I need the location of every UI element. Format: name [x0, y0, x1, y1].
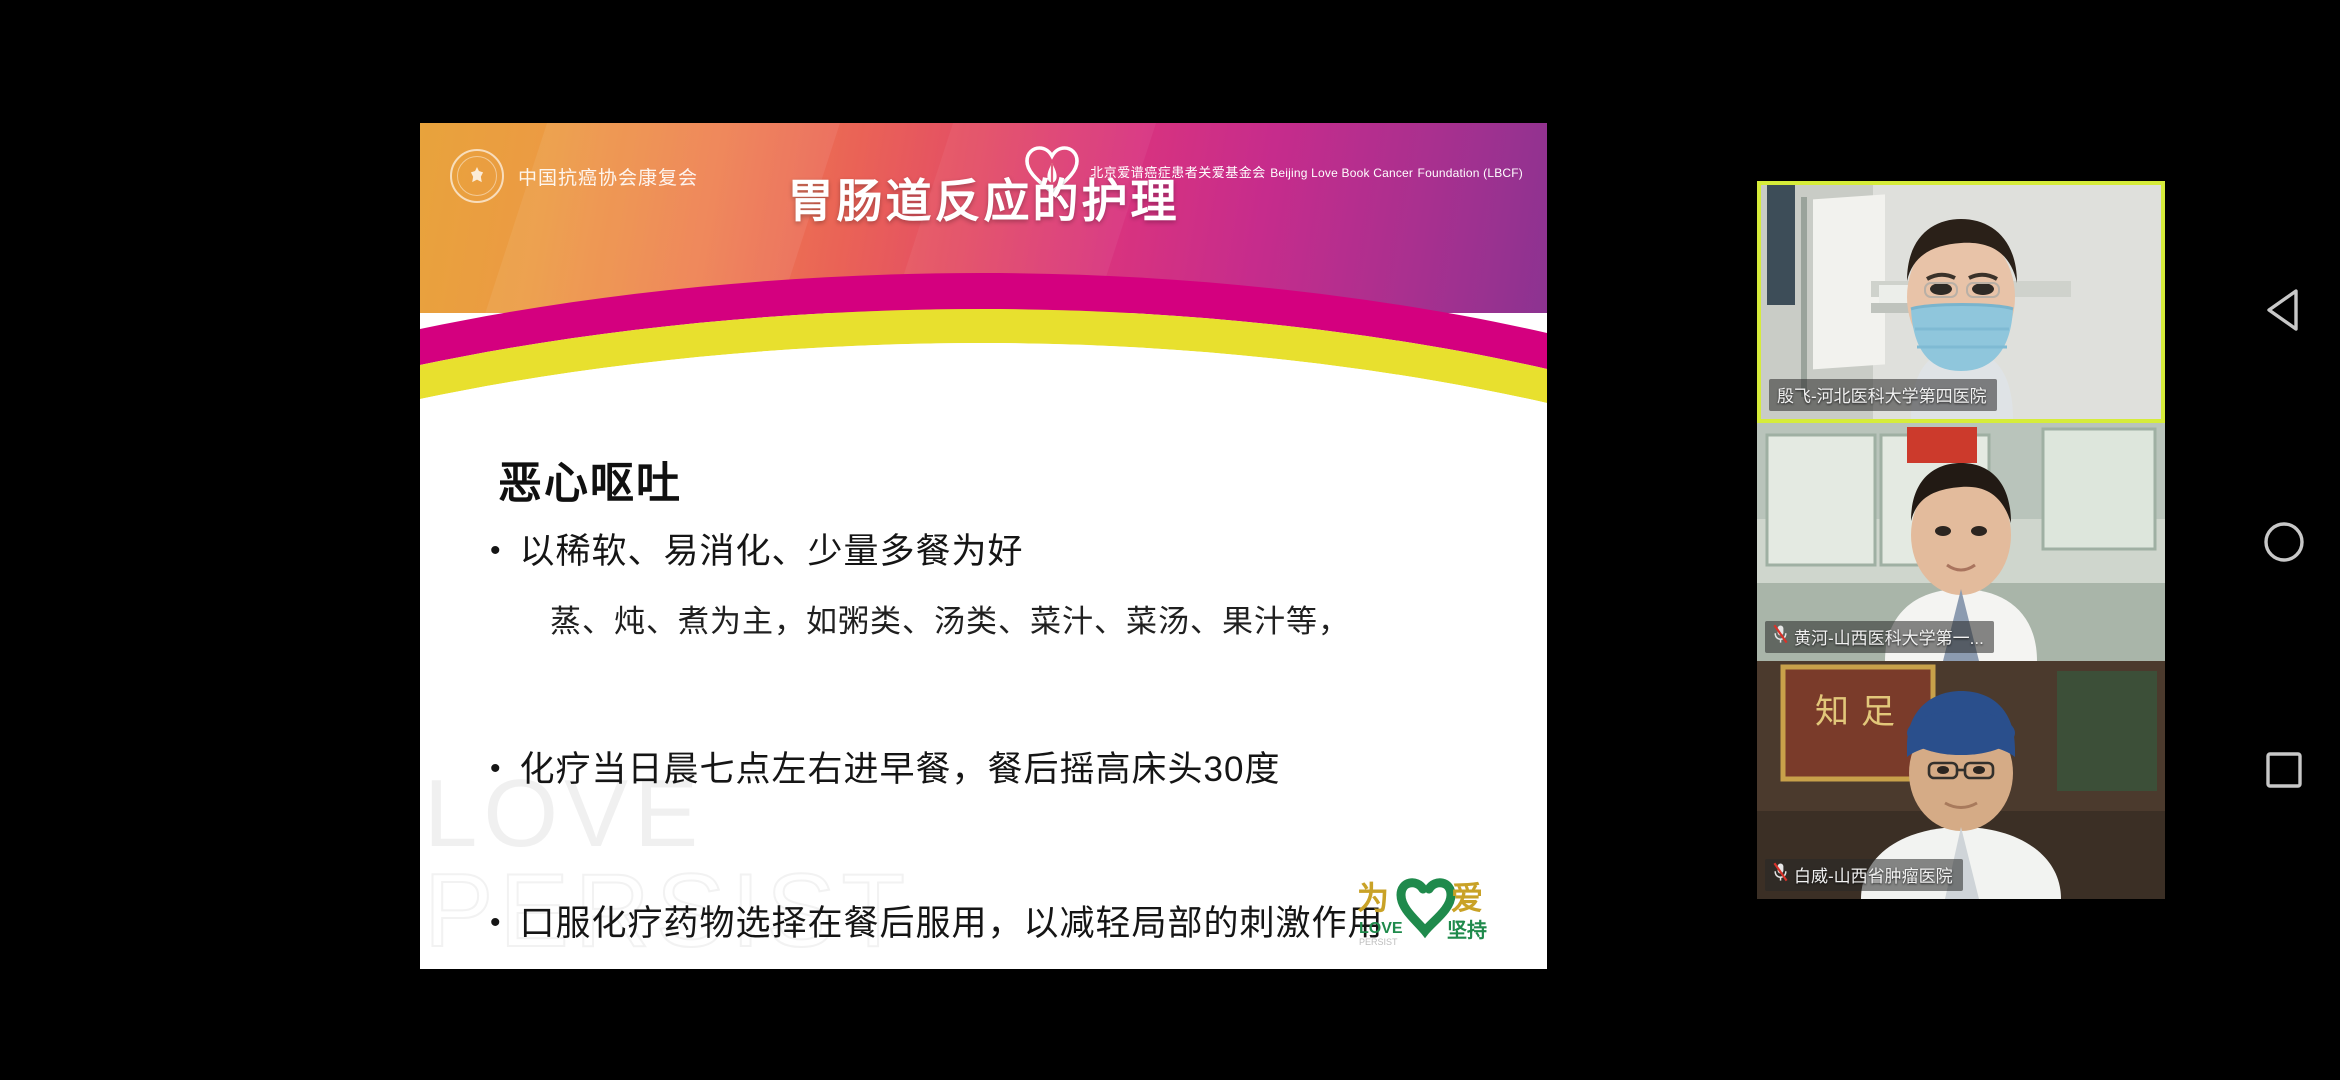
bullet-text: 以稀软、易消化、少量多餐为好 — [520, 531, 1024, 574]
back-triangle-icon — [2262, 286, 2306, 334]
screen-root: LOVE PERSIST 中国抗癌协会康复会 北京爱谱癌症患者关爱基金会 Bei… — [0, 0, 2340, 1080]
bullet-item: • 化疗当日晨七点左右进早餐，餐后摇高床头30度 — [490, 749, 1470, 792]
bullet-marker: • — [490, 749, 502, 788]
svg-text:坚持: 坚持 — [1447, 918, 1487, 942]
home-circle-icon — [2260, 518, 2308, 566]
mic-muted-icon — [1773, 624, 1788, 649]
bullet-text: 口服化疗药物选择在餐后服用，以减轻局部的刺激作用 — [520, 903, 1384, 946]
participant-name-tag: 黄河-山西医科大学第一... — [1765, 621, 1994, 653]
participant-video-column: 殷飞-河北医科大学第四医院 — [1757, 181, 2165, 899]
svg-text:足: 足 — [1861, 693, 1895, 731]
participant-tile[interactable]: 黄河-山西医科大学第一... — [1757, 423, 2165, 661]
shared-slide[interactable]: LOVE PERSIST 中国抗癌协会康复会 北京爱谱癌症患者关爱基金会 Bei… — [420, 123, 1547, 969]
back-button[interactable] — [2256, 282, 2312, 338]
bullet-item: • 以稀软、易消化、少量多餐为好 — [490, 531, 1470, 574]
participant-name: 黄河-山西医科大学第一... — [1794, 624, 1984, 649]
bullet-text: 化疗当日晨七点左右进早餐，餐后摇高床头30度 — [520, 749, 1281, 792]
slide-bullet-list: • 以稀软、易消化、少量多餐为好 蒸、炖、煮为主，如粥类、汤类、菜汁、菜汤、果汁… — [490, 531, 1470, 946]
participant-tile[interactable]: 知 足 — [1757, 661, 2165, 899]
home-button[interactable] — [2256, 514, 2312, 570]
recents-button[interactable] — [2256, 742, 2312, 798]
bullet-marker: • — [490, 903, 502, 942]
participant-name-tag: 殷飞-河北医科大学第四医院 — [1769, 379, 1997, 411]
recents-square-icon — [2262, 748, 2306, 792]
svg-text:PERSIST: PERSIST — [1359, 937, 1398, 947]
bullet-item: • 口服化疗药物选择在餐后服用，以减轻局部的刺激作用 — [490, 903, 1470, 946]
svg-text:为: 为 — [1357, 880, 1389, 916]
participant-name-tag: 白威-山西省肿瘤医院 — [1765, 859, 1963, 891]
slide-body-heading: 恶心呕吐 — [498, 447, 682, 511]
svg-text:知: 知 — [1815, 693, 1849, 731]
slide-title: 胃肠道反应的护理 — [420, 165, 1547, 231]
participant-name: 白威-山西省肿瘤医院 — [1794, 862, 1953, 887]
love-persist-logo: 为 爱 LOVE PERSIST 坚持 — [1355, 873, 1495, 947]
android-navigation-bar — [2228, 0, 2340, 1080]
participant-name: 殷飞-河北医科大学第四医院 — [1777, 382, 1987, 407]
participant-tile[interactable]: 殷飞-河北医科大学第四医院 — [1757, 181, 2165, 423]
bullet-subtext: 蒸、炖、煮为主，如粥类、汤类、菜汁、菜汤、果汁等， — [550, 596, 1470, 641]
mic-muted-icon — [1773, 862, 1788, 887]
bullet-marker: • — [490, 531, 502, 570]
svg-text:LOVE: LOVE — [1359, 920, 1403, 937]
svg-text:爱: 爱 — [1451, 880, 1483, 916]
